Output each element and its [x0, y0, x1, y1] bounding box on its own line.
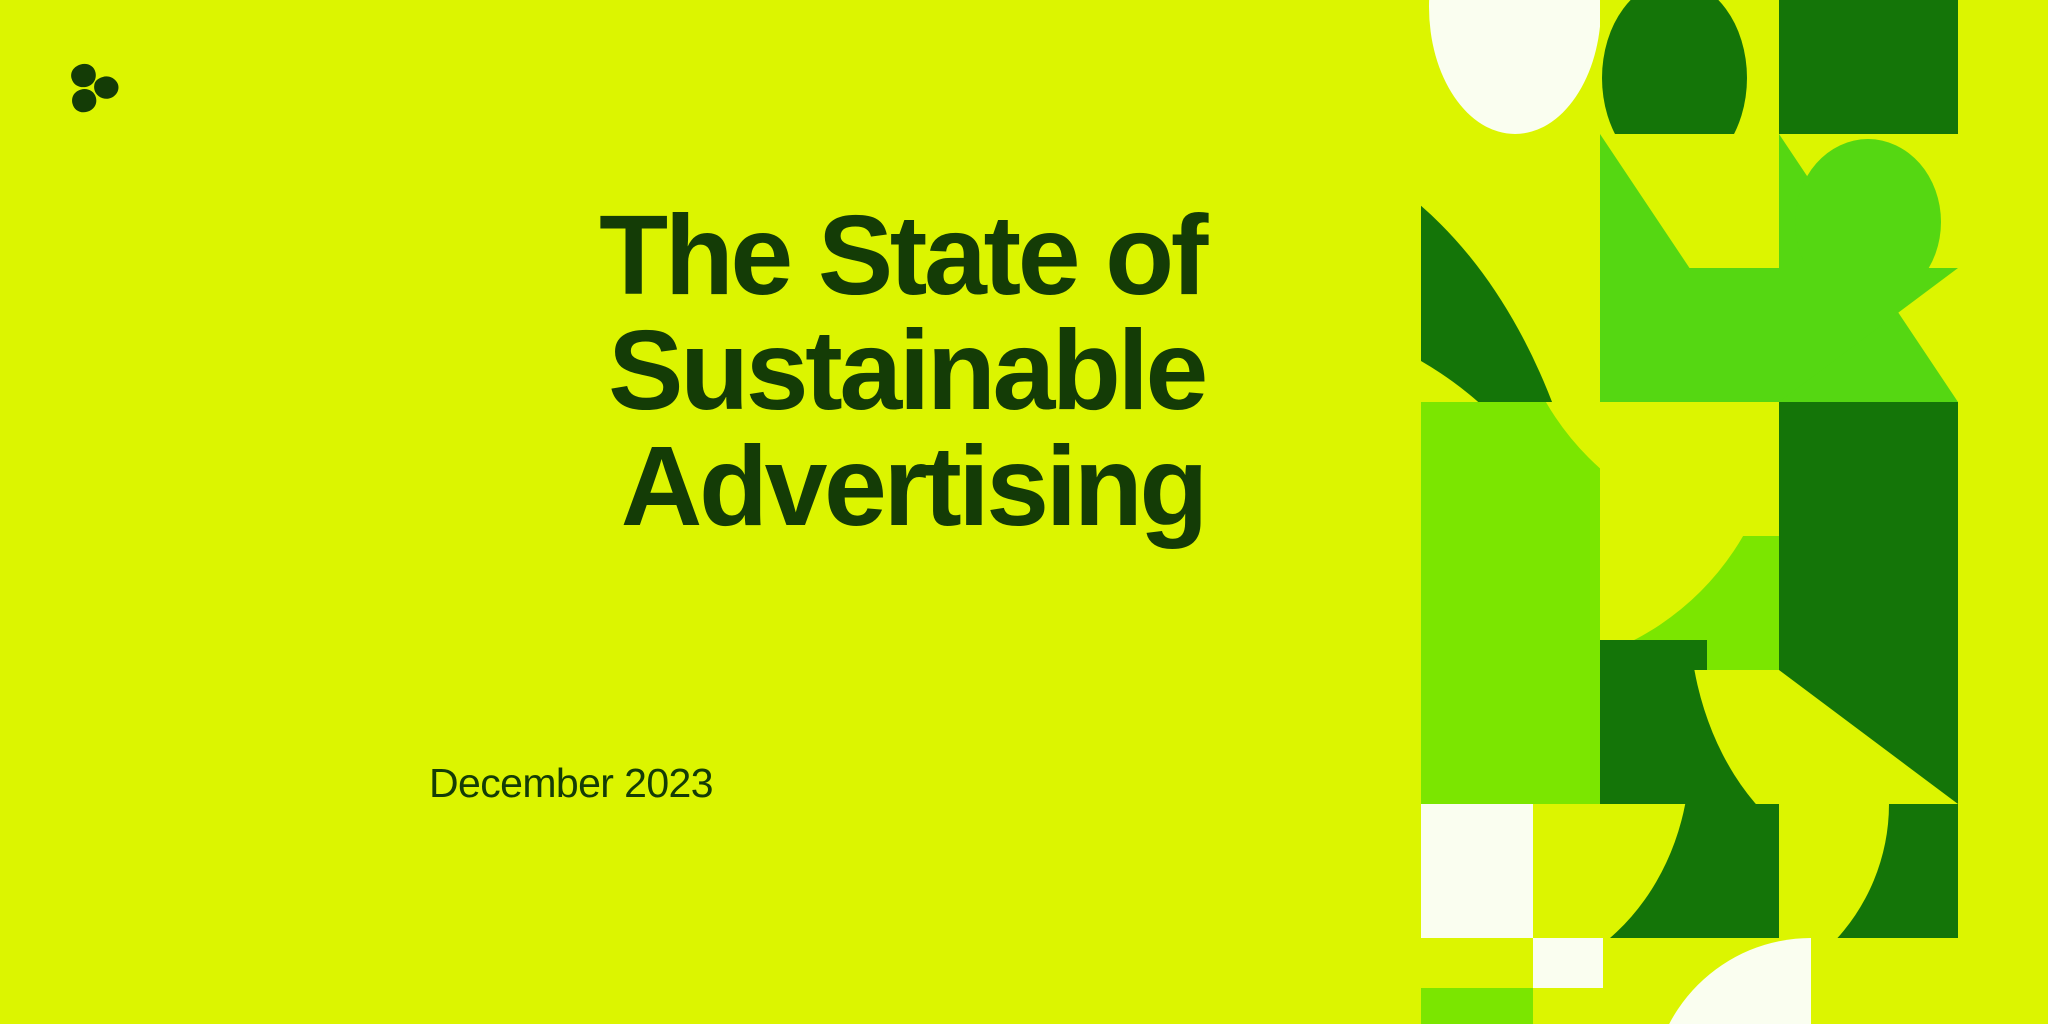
- pattern-cell-r6c2: [1779, 804, 1958, 938]
- pattern-cell-r0c2: [1779, 0, 1958, 134]
- cream-quarter-circle: [1651, 938, 1811, 1024]
- cream-circle: [1429, 0, 1600, 134]
- cover-slide: The State of Sustainable Advertising Dec…: [0, 0, 2048, 1024]
- publication-date: December 2023: [0, 760, 789, 807]
- pattern-cell-r2c2: [1779, 268, 1958, 402]
- pattern-cell-r6c1-dark-bridge: [1600, 804, 1779, 938]
- pattern-cell-r7c2: [1651, 938, 1958, 1024]
- pattern-cell-bottom-strip-0: [1421, 988, 1533, 1024]
- lime-strip: [1533, 988, 1651, 1024]
- dark-green-block-2: [1779, 536, 1958, 670]
- mid-green-diagonal: [1779, 268, 1958, 402]
- pattern-cell-r4c1-dark-bottom: [1600, 640, 1707, 670]
- brand-logo[interactable]: [62, 62, 124, 114]
- bright-green-block: [1421, 402, 1600, 670]
- pattern-cell-r0c0: [1421, 0, 1600, 134]
- pattern-cell-r2c1: [1600, 268, 1779, 402]
- pattern-cell-r0c1: [1600, 0, 1779, 134]
- dark-green-sliver: [1600, 640, 1707, 670]
- dark-green-square: [1779, 0, 1958, 134]
- title-line-3: Advertising: [621, 423, 1205, 549]
- cream-block: [1421, 804, 1533, 938]
- three-petal-clover-icon: [62, 62, 124, 114]
- mid-green-fill: [1600, 268, 1779, 402]
- dark-green-ellipse: [1602, 0, 1747, 134]
- pattern-cell-r5c2: [1779, 670, 1958, 804]
- geometric-pattern: [1421, 0, 1958, 1024]
- pattern-cell-r1c0: [1421, 134, 1600, 402]
- bright-green-block-3: [1421, 670, 1600, 804]
- pattern-cell-bottom-strip-1: [1533, 988, 1651, 1024]
- pattern-cell-r3c0: [1421, 402, 1600, 670]
- pattern-cell-r5c0: [1421, 670, 1600, 804]
- title-line-1: The State of: [599, 192, 1205, 318]
- page-title: The State of Sustainable Advertising: [0, 198, 1205, 544]
- pattern-cell-r4c2-dark: [1779, 536, 1958, 670]
- pattern-cell-r6c0: [1421, 804, 1533, 938]
- dark-green-quarter-arc: [1421, 134, 1600, 402]
- bright-green-strip: [1421, 988, 1533, 1024]
- title-line-2: Sustainable: [608, 307, 1205, 433]
